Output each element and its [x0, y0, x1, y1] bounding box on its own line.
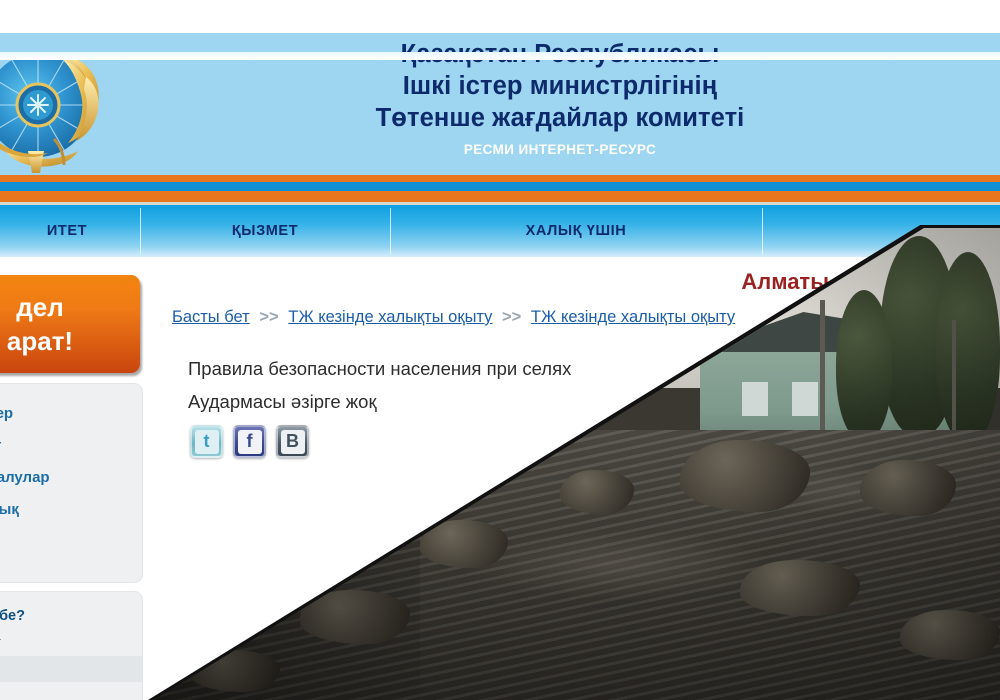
- stripe-orange-bottom: [0, 191, 1000, 202]
- vkontakte-icon[interactable]: В: [276, 425, 309, 458]
- sidebar-link-4[interactable]: ұқықтық: [0, 494, 142, 526]
- nav-separator-2: [390, 208, 391, 254]
- breadcrumb-separator: >>: [497, 308, 526, 326]
- nav-item-label: ИТЕТ: [47, 223, 87, 239]
- sidebar-link-1[interactable]: әміздер: [0, 398, 142, 430]
- sidebar-link-2[interactable]: ызмет: [0, 430, 142, 462]
- facebook-icon[interactable]: f: [233, 425, 266, 458]
- promo-line-1: дел: [16, 290, 63, 324]
- social-share-buttons: t f В: [190, 425, 309, 458]
- page-root: Қазақстан Республикасы Ішкі істер минист…: [0, 0, 1000, 700]
- stripe-orange-top: [0, 175, 1000, 182]
- stripe-blue: [0, 182, 1000, 191]
- breadcrumb-link-1[interactable]: Басты бет: [172, 308, 250, 326]
- article-subtitle: Аудармасы әзірге жоқ: [188, 389, 377, 415]
- twitter-glyph: t: [195, 430, 219, 454]
- breadcrumb-link-3[interactable]: ТЖ кезінде халықты оқыту: [288, 308, 492, 326]
- facebook-glyph: f: [238, 430, 262, 454]
- top-gutter: [0, 0, 1000, 33]
- poll-option-1[interactable]: бір рет: [0, 630, 142, 656]
- nav-item-1[interactable]: ИТЕТ: [0, 205, 140, 257]
- sidebar-link-6[interactable]: ық: [0, 558, 142, 590]
- poll-option-2[interactable]: рет: [0, 656, 142, 682]
- nav-item-3[interactable]: ХАЛЫҚ ҮШІН: [390, 205, 762, 257]
- breadcrumb-link-5[interactable]: ТЖ кезінде халықты оқыту: [531, 308, 735, 326]
- header-subtitle: РЕСМИ ИНТЕРНЕТ-РЕСУРС: [150, 140, 970, 160]
- kazakhstan-state-emblem-icon: [0, 43, 112, 175]
- promo-banner-button[interactable]: дел арат!: [0, 275, 140, 373]
- nav-item-label: ҚЫЗМЕТ: [232, 223, 298, 239]
- nav-item-label: ХАЛЫҚ ҮШІН: [526, 223, 627, 239]
- twitter-icon[interactable]: t: [190, 425, 223, 458]
- sidebar-poll-panel: іресіз бе? бір ретрет: [0, 591, 143, 700]
- article-title: Правила безопасности населения при селях: [188, 356, 571, 382]
- sidebar-link-3[interactable]: атып алулар: [0, 462, 142, 494]
- nav-separator-1: [140, 208, 141, 254]
- vkontakte-glyph: В: [281, 430, 305, 454]
- breadcrumb-separator: >>: [254, 308, 283, 326]
- sidebar-links-panel: әміздерызметатып алуларұқықтық ық: [0, 383, 143, 583]
- header-title-line-2: Ішкі істер министрлігінің: [150, 70, 970, 102]
- promo-line-2: арат!: [7, 324, 73, 358]
- poll-question: іресіз бе?: [0, 604, 142, 630]
- nav-item-2[interactable]: ҚЫЗМЕТ: [140, 205, 390, 257]
- header-title-line-3: Төтенше жағдайлар комитеті: [150, 102, 970, 134]
- nav-separator-3: [762, 208, 763, 254]
- decorative-stripe-band: [0, 175, 1000, 205]
- nav-underglow: [0, 52, 1000, 60]
- main-navigation: ИТЕТҚЫЗМЕТХАЛЫҚ ҮШІН: [0, 205, 1000, 257]
- sidebar-link-5[interactable]: [0, 526, 142, 558]
